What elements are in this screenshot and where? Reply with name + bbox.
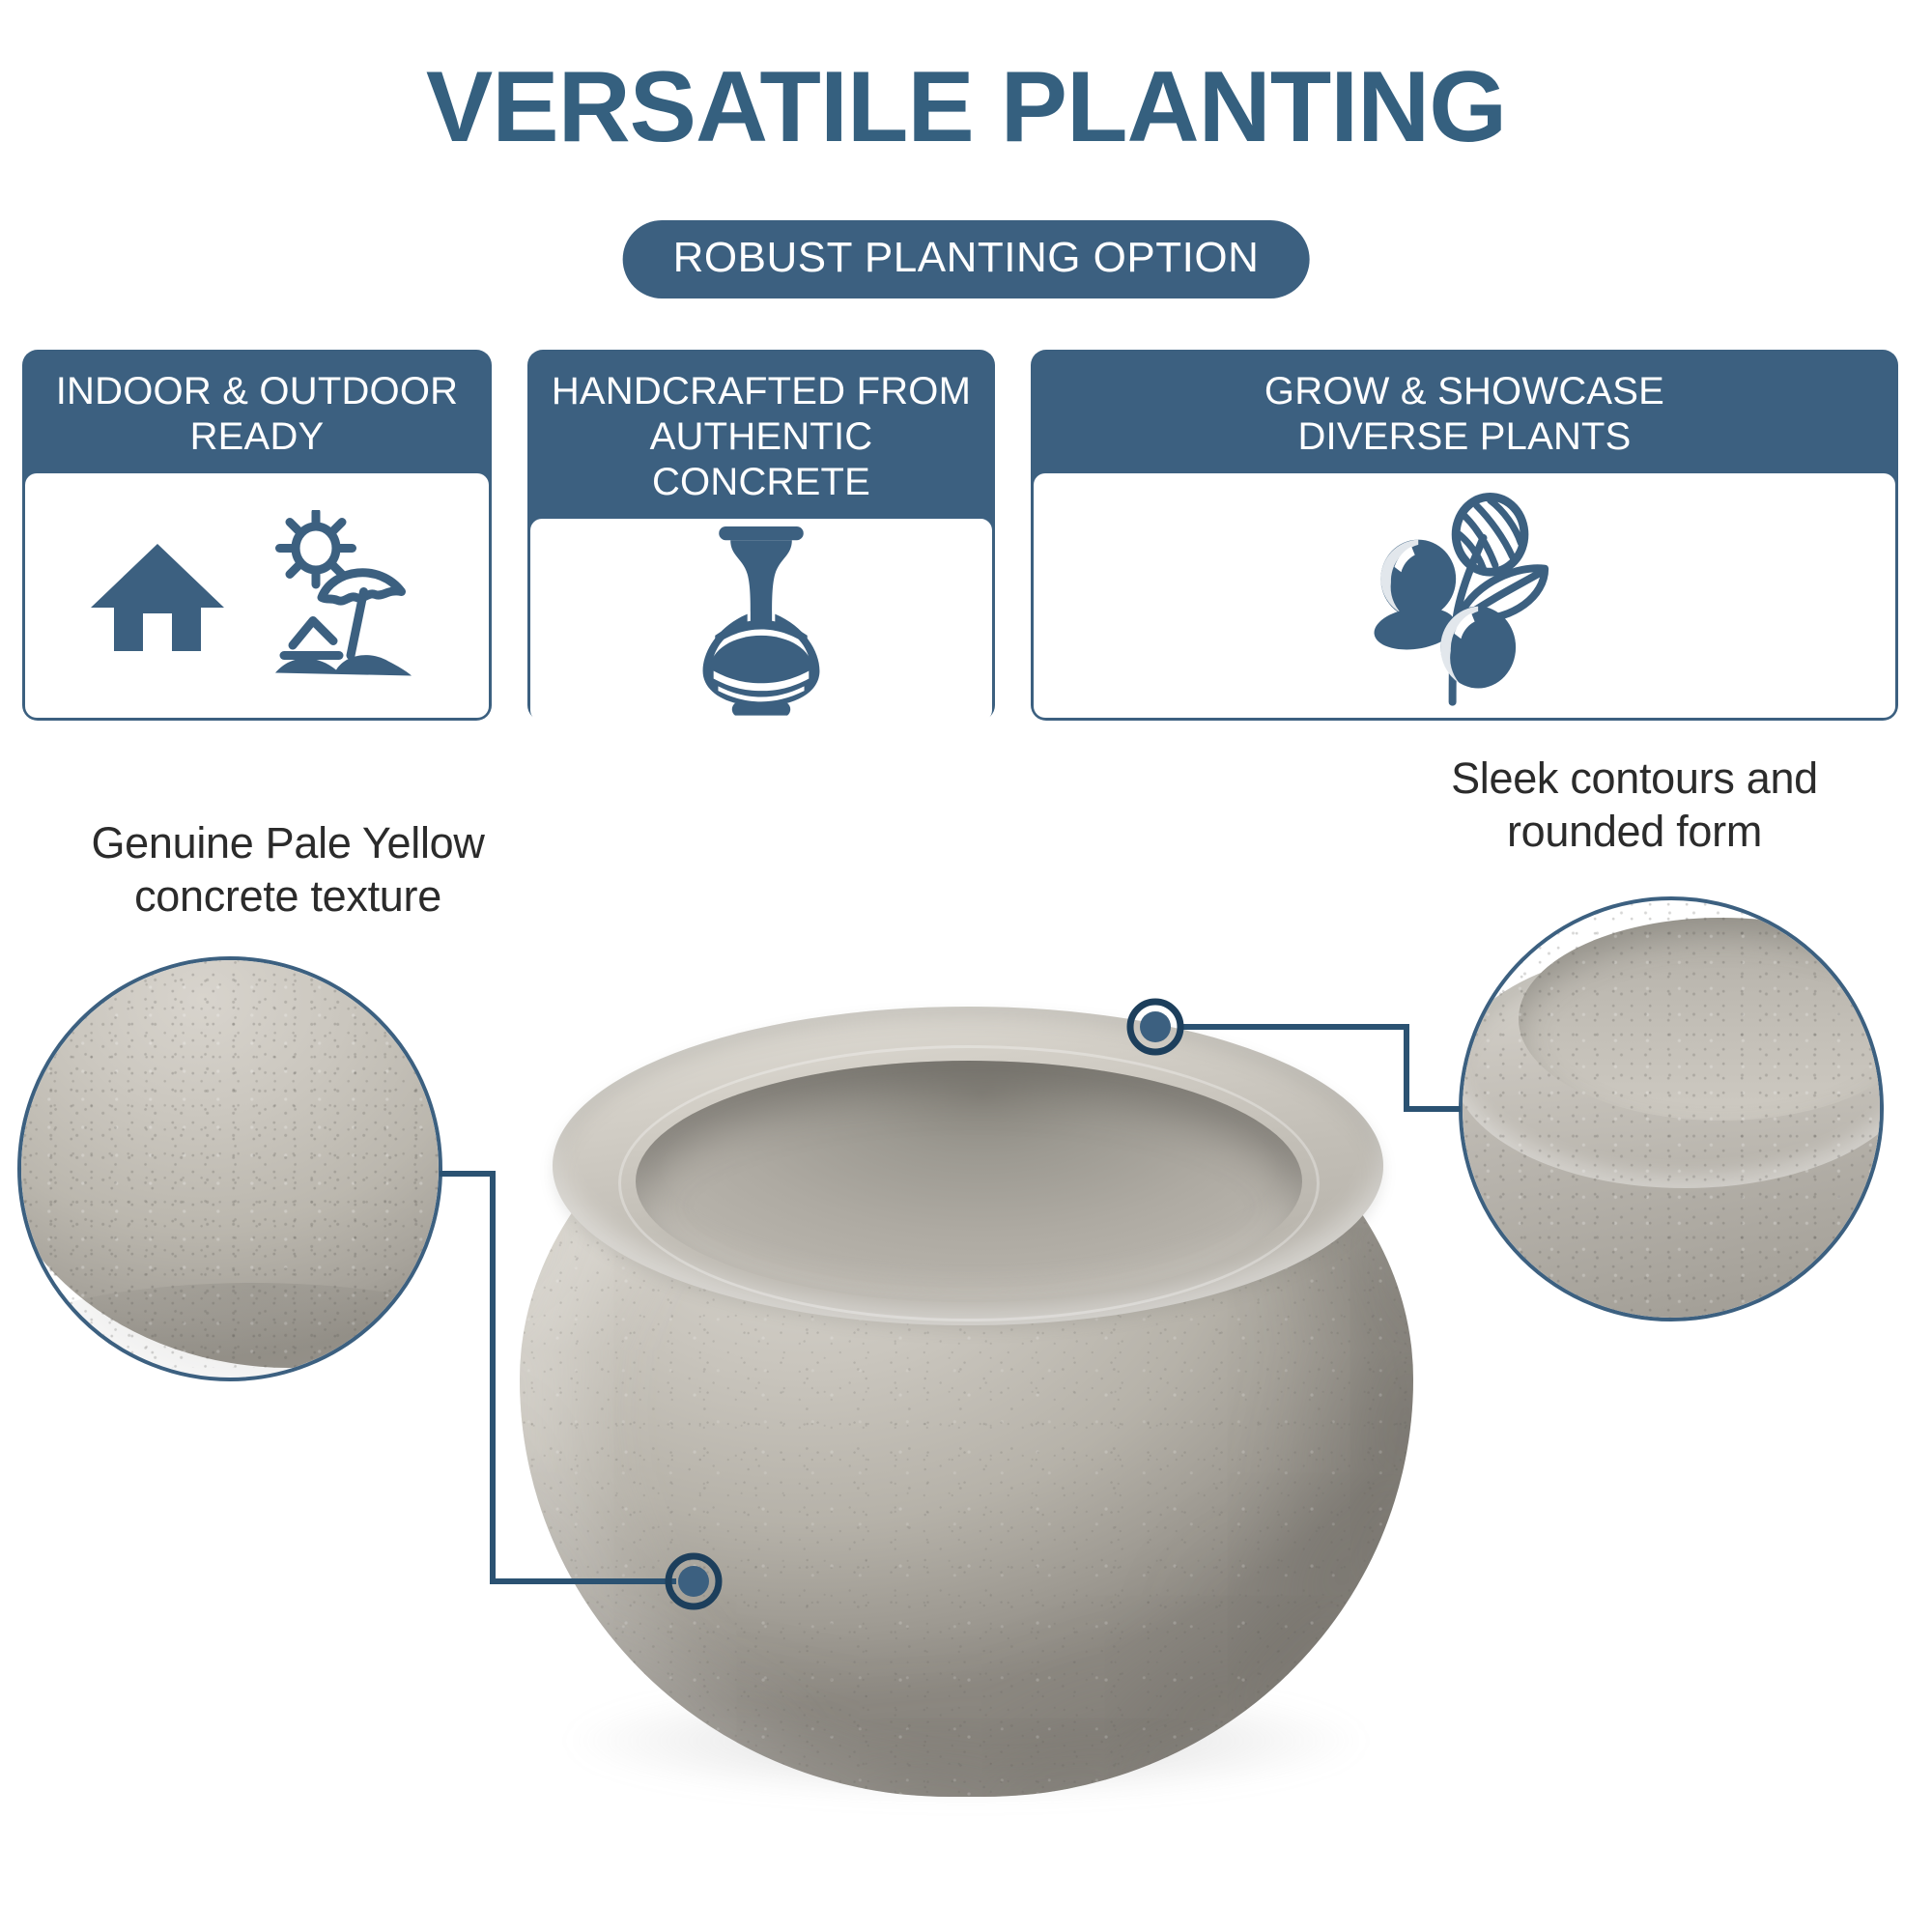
feature-heading-line2: READY	[190, 415, 325, 458]
product-planter-image	[502, 985, 1430, 1835]
feature-card-indoor-outdoor: INDOOR & OUTDOOR READY	[22, 350, 492, 721]
callout-line2: concrete texture	[134, 871, 441, 921]
striped-berry-shape	[1456, 497, 1524, 572]
infographic-canvas: VERSATILE PLANTING ROBUST PLANTING OPTIO…	[0, 0, 1932, 1932]
berry-branch-icon	[1353, 486, 1576, 706]
feature-heading-line1: HANDCRAFTED FROM	[552, 370, 971, 412]
feature-card-diverse-plants: GROW & SHOWCASE DIVERSE PLANTS	[1031, 350, 1898, 721]
feature-card-icons	[530, 519, 992, 722]
callout-line2: rounded form	[1507, 807, 1762, 856]
feature-card-heading: INDOOR & OUTDOOR READY	[25, 353, 489, 473]
beach-umbrella-icon	[255, 510, 429, 682]
feature-card-icons	[25, 473, 489, 718]
feature-heading-line1: GROW & SHOWCASE	[1264, 370, 1664, 412]
planter-inner-cavity	[636, 1061, 1302, 1302]
callout-label-contours: Sleek contours and rounded form	[1364, 752, 1905, 858]
feature-card-icons	[1034, 473, 1895, 718]
page-title: VERSATILE PLANTING	[0, 54, 1932, 160]
house-icon	[85, 524, 230, 668]
feature-heading-line2: DIVERSE PLANTS	[1297, 415, 1631, 458]
feature-heading-line2: AUTHENTIC CONCRETE	[650, 415, 873, 503]
subtitle-badge: ROBUST PLANTING OPTION	[623, 220, 1310, 298]
feature-card-heading: GROW & SHOWCASE DIVERSE PLANTS	[1034, 353, 1895, 473]
vase-icon	[684, 519, 838, 722]
feature-heading-line1: INDOOR & OUTDOOR	[56, 370, 459, 412]
callout-label-texture: Genuine Pale Yellow concrete texture	[27, 816, 549, 923]
callout-line1: Sleek contours and	[1451, 753, 1818, 803]
detail-circle-texture	[17, 956, 442, 1381]
detail-circle-contours	[1459, 896, 1884, 1321]
callout-line1: Genuine Pale Yellow	[91, 818, 484, 867]
lower-berry-shape	[1440, 606, 1516, 688]
feature-card-handcrafted-concrete: HANDCRAFTED FROM AUTHENTIC CONCRETE	[527, 350, 995, 721]
feature-card-heading: HANDCRAFTED FROM AUTHENTIC CONCRETE	[530, 353, 992, 519]
lounge-chair-icon	[284, 620, 339, 655]
left-berry-shape	[1380, 539, 1456, 617]
